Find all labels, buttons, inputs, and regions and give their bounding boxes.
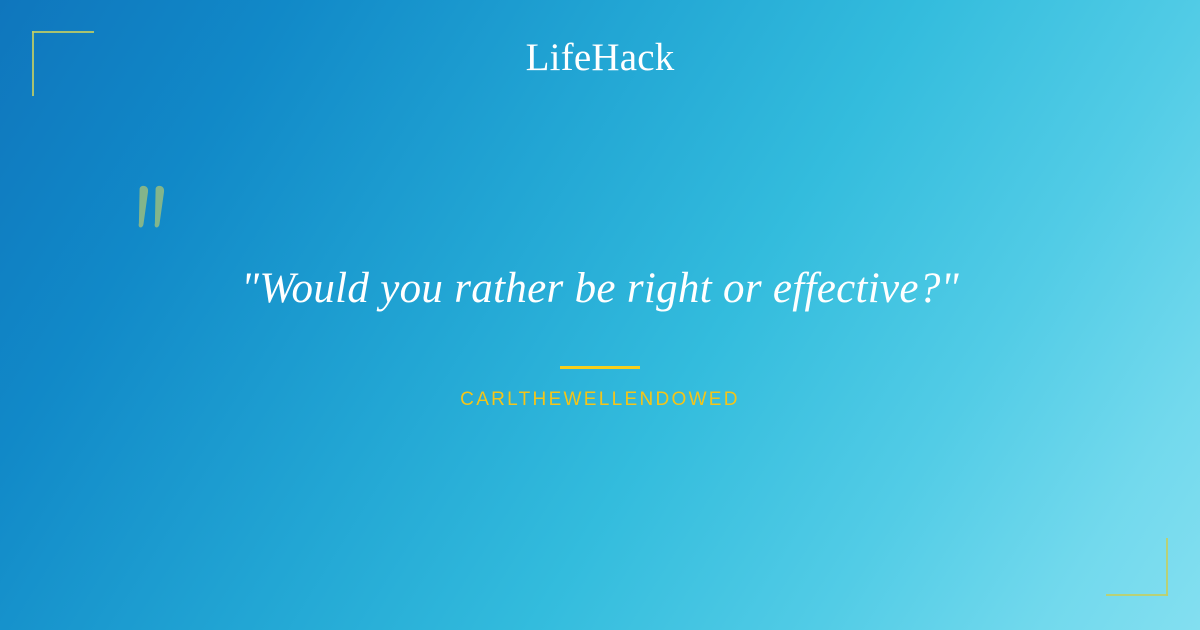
double-quote-mark-icon — [126, 172, 196, 252]
quote-text: "Would you rather be right or effective?… — [100, 262, 1100, 316]
author-container: CARLTHEWELLENDOWED — [0, 389, 1200, 412]
divider-container — [0, 356, 1200, 374]
quote-divider — [560, 366, 640, 369]
quote-card: LifeHack "Would you rather be right or e… — [0, 0, 1200, 630]
corner-bracket-bottom-right-icon — [1106, 538, 1168, 596]
brand-logo-container: LifeHack — [0, 38, 1200, 77]
bracket-right-line — [1166, 538, 1168, 596]
brand-logo: LifeHack — [526, 38, 675, 77]
quote-text-container: "Would you rather be right or effective?… — [0, 262, 1200, 316]
bracket-bottom-line — [1106, 594, 1168, 596]
quote-author: CARLTHEWELLENDOWED — [460, 389, 740, 412]
bracket-top-line — [32, 31, 94, 33]
